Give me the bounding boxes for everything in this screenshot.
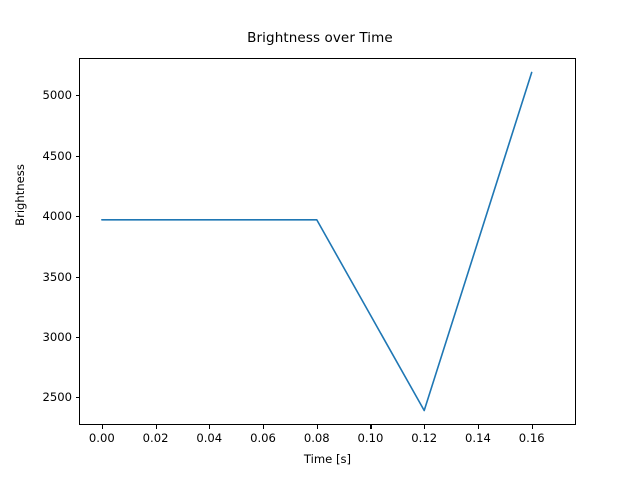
x-tick-mark <box>317 425 318 429</box>
x-axis-label: Time [s] <box>79 452 576 466</box>
y-axis-label: Brightness <box>13 135 27 255</box>
plot-area <box>79 58 576 425</box>
x-tick-mark <box>424 425 425 429</box>
y-tick-label: 5000 <box>42 88 72 102</box>
y-tick-mark <box>76 216 80 217</box>
brightness-line-series <box>102 72 532 410</box>
x-tick-label: 0.08 <box>304 431 330 445</box>
y-axis-tick-labels: 250030003500400045005000 <box>0 0 72 480</box>
x-tick-mark <box>156 425 157 429</box>
x-tick-label: 0.02 <box>143 431 169 445</box>
x-tick-label: 0.04 <box>196 431 222 445</box>
x-tick-mark <box>263 425 264 429</box>
x-tick-mark <box>370 425 371 429</box>
x-tick-mark <box>532 425 533 429</box>
y-tick-label: 3500 <box>42 270 72 284</box>
y-tick-label: 4000 <box>42 209 72 223</box>
x-tick-label: 0.14 <box>465 431 491 445</box>
y-tick-label: 2500 <box>42 390 72 404</box>
x-tick-label: 0.00 <box>89 431 115 445</box>
matplotlib-figure: Brightness over Time 2500300035004000450… <box>0 0 640 480</box>
chart-title: Brightness over Time <box>0 30 640 46</box>
y-tick-mark <box>76 397 80 398</box>
y-tick-mark <box>76 95 80 96</box>
x-tick-label: 0.06 <box>250 431 276 445</box>
x-tick-mark <box>102 425 103 429</box>
x-tick-mark <box>478 425 479 429</box>
y-tick-mark <box>76 337 80 338</box>
x-tick-label: 0.10 <box>358 431 384 445</box>
y-tick-mark <box>76 156 80 157</box>
x-tick-label: 0.12 <box>411 431 437 445</box>
y-tick-label: 3000 <box>42 330 72 344</box>
y-tick-label: 4500 <box>42 149 72 163</box>
x-tick-mark <box>209 425 210 429</box>
x-tick-label: 0.16 <box>519 431 545 445</box>
y-tick-mark <box>76 277 80 278</box>
